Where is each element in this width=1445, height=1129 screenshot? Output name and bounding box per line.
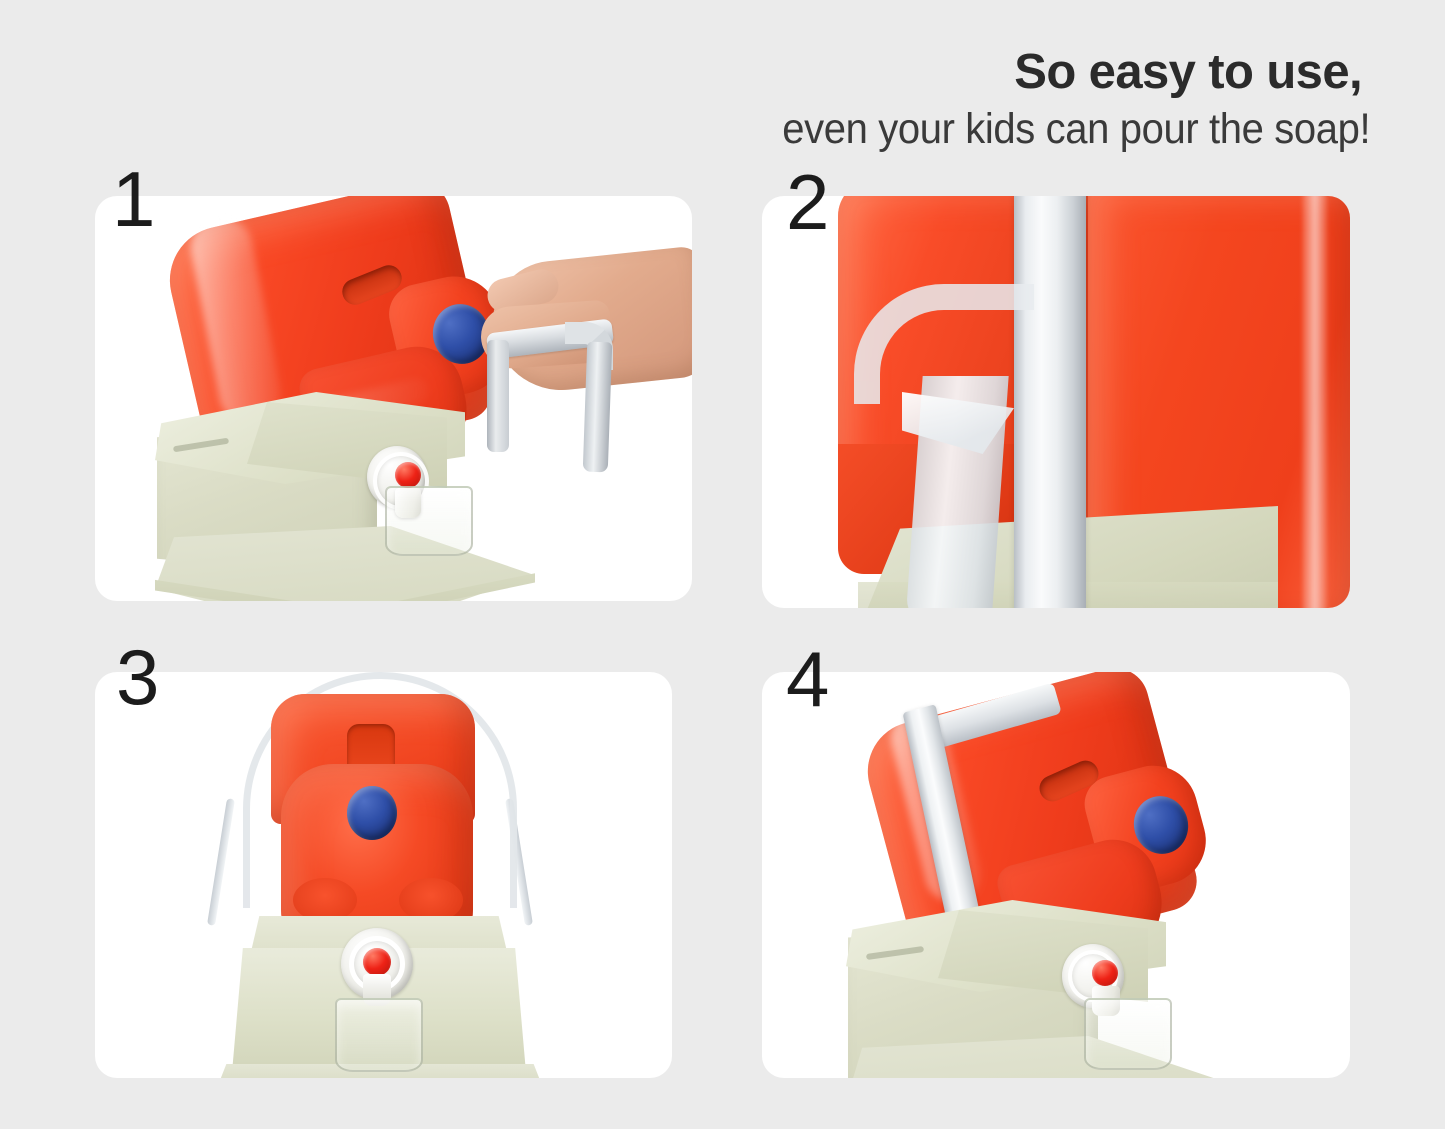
step-1-illustration bbox=[95, 196, 692, 601]
strap-left-tail bbox=[207, 798, 235, 926]
step-number-2: 2 bbox=[786, 163, 829, 241]
page-subtitle: even your kids can pour the soap! bbox=[782, 108, 1370, 151]
jug-dimple-right bbox=[399, 878, 463, 922]
page-title: So easy to use, bbox=[1014, 48, 1362, 97]
header: So easy to use, even your kids can pour … bbox=[0, 0, 1445, 190]
step-panel-1 bbox=[95, 196, 692, 601]
step-panel-4 bbox=[762, 672, 1350, 1078]
measuring-cup bbox=[385, 486, 473, 556]
spigot-button-icon bbox=[1092, 960, 1118, 986]
measuring-cup bbox=[335, 998, 423, 1072]
jug-edge-highlight bbox=[1302, 196, 1328, 608]
step-number-4: 4 bbox=[786, 640, 829, 718]
step-3-illustration bbox=[95, 672, 672, 1078]
blue-cap-icon bbox=[347, 786, 397, 840]
step-number-3: 3 bbox=[116, 638, 159, 716]
step-panel-3 bbox=[95, 672, 672, 1078]
u-strap-right-leg bbox=[583, 342, 613, 473]
step-number-1: 1 bbox=[112, 160, 155, 238]
spigot-button-icon bbox=[395, 462, 421, 488]
spigot-button-icon bbox=[363, 948, 391, 976]
jug-dimple-left bbox=[293, 878, 357, 922]
step-4-illustration bbox=[762, 672, 1350, 1078]
u-strap-left-leg bbox=[487, 340, 509, 452]
step-2-illustration bbox=[762, 196, 1350, 608]
step-panel-2 bbox=[762, 196, 1350, 608]
measuring-cup bbox=[1084, 998, 1172, 1070]
